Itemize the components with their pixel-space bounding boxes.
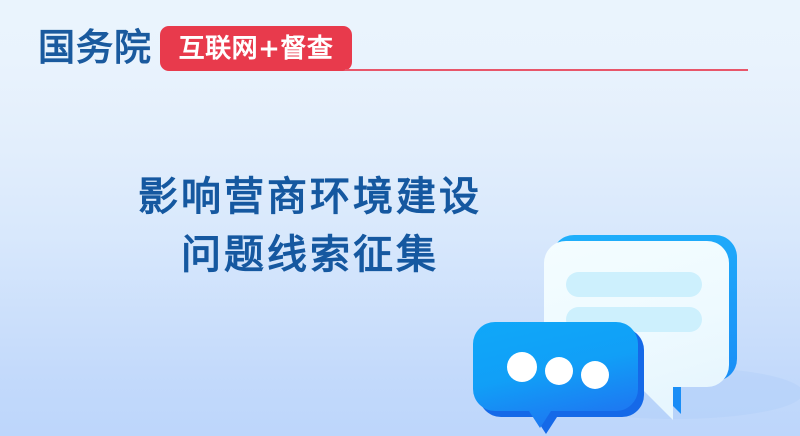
program-badge: 互联网+督查 bbox=[160, 26, 352, 71]
header-divider-line bbox=[345, 69, 748, 71]
banner-root: 国务院 互联网+督查 影响营商环境建设 问题线索征集 bbox=[0, 0, 800, 436]
back-bubble-text-line-1 bbox=[566, 272, 702, 297]
chat-bubbles-illustration bbox=[470, 215, 800, 436]
organization-name: 国务院 bbox=[38, 26, 152, 70]
typing-dot-1 bbox=[507, 352, 537, 382]
program-badge-label: 互联网+督查 bbox=[179, 34, 334, 64]
typing-dot-3 bbox=[581, 361, 609, 389]
typing-dot-2 bbox=[545, 357, 573, 385]
header: 国务院 互联网+督查 bbox=[0, 0, 800, 100]
